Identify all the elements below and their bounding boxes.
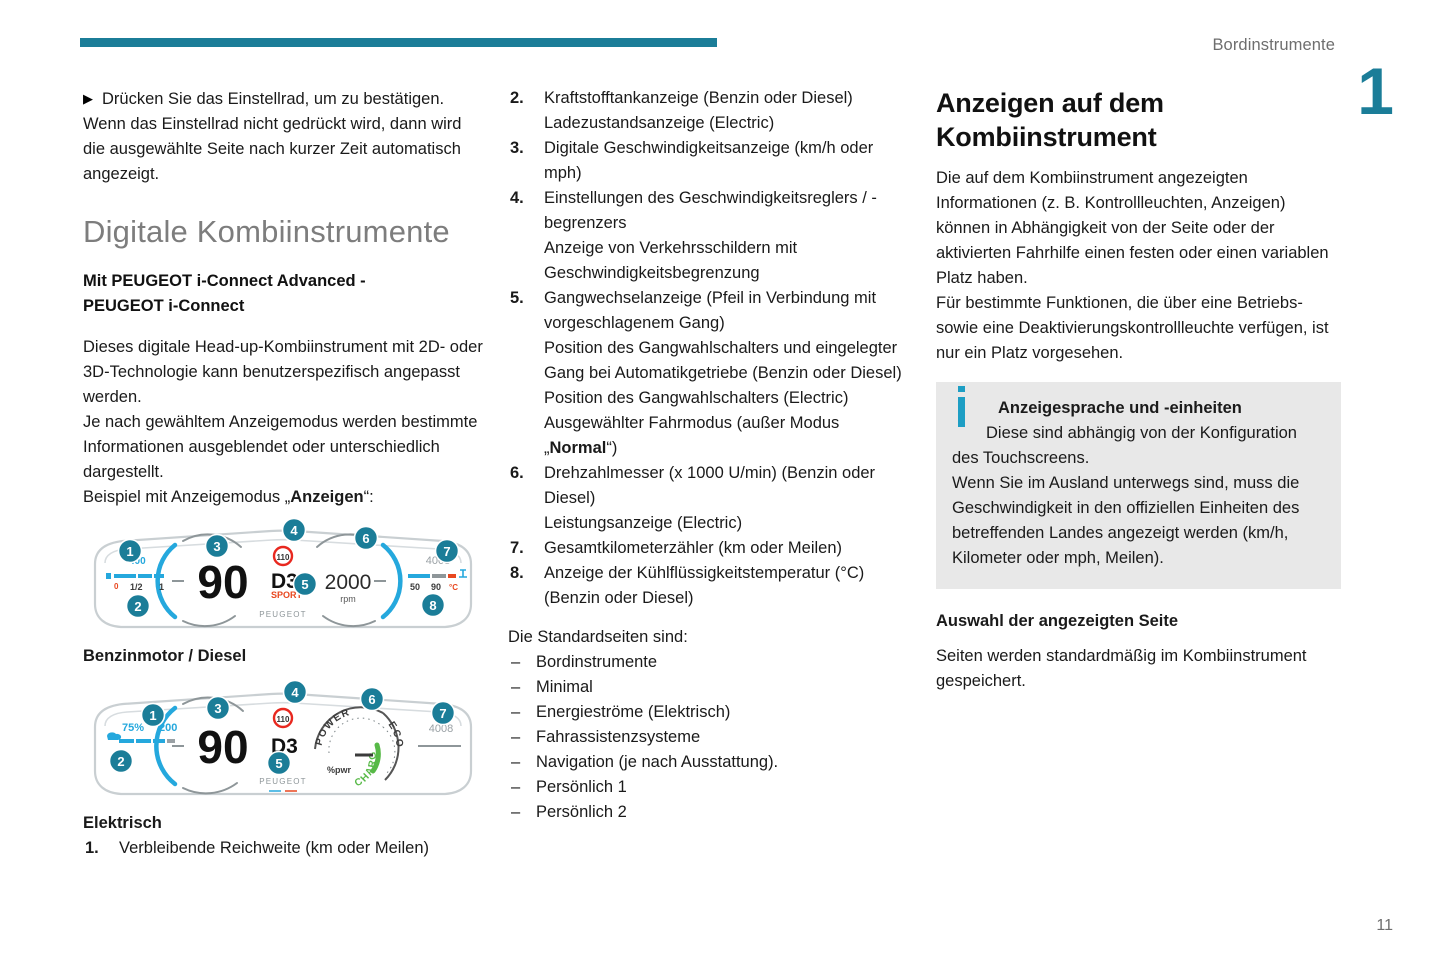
paragraph-1: Die auf dem Kombiinstrument angezeigten … (936, 166, 1341, 291)
fuel-bar-2 (138, 574, 152, 578)
cluster-legend-list-start: 1. Verbleibende Reichweite (km oder Meil… (83, 836, 483, 861)
svg-text:1: 1 (126, 544, 133, 559)
list-item: 8. Anzeige der Kühlflüssigkeitstemperatu… (508, 561, 913, 611)
speed-limit-value: 110 (277, 553, 290, 562)
speed-limit-value: 110 (277, 715, 290, 724)
column-left: ▶Drücken Sie das Einstellrad, um zu best… (83, 86, 483, 861)
paragraph-3-pre: Beispiel mit Anzeigemodus „ (83, 488, 290, 506)
rpm-readout: 2000 (325, 571, 372, 594)
triangle-right-icon: ▶ (83, 86, 93, 111)
callout-4: 4 (283, 519, 306, 542)
list-item-subtext-3: Ausgewählter Fahrmodus (außer Modus „Nor… (544, 411, 913, 461)
list-item-text: Persönlich 2 (536, 803, 627, 821)
header-accent-rule (80, 38, 717, 47)
paragraph-1: Dieses digitale Head-up-Kombiinstrument … (83, 335, 483, 410)
dash-marker: – (511, 675, 520, 700)
section-heading: Anzeigen auf dem Kombiinstrument (936, 86, 1341, 154)
list-item-text: Gesamtkilometerzähler (km oder Meilen) (544, 536, 913, 561)
list-item: 3. Digitale Geschwindigkeitsanzeige (km/… (508, 136, 913, 186)
paragraph-3: Seiten werden standardmäßig im Kombiinst… (936, 644, 1341, 694)
paragraph-2: Je nach gewähltem Anzeigemodus werden be… (83, 410, 483, 485)
default-pages-intro: Die Standardseiten sind: (508, 625, 913, 650)
callout-3: 3 (207, 697, 230, 720)
brand-label: PEUGEOT (259, 777, 307, 786)
intro-paragraph: ▶Drücken Sie das Einstellrad, um zu best… (83, 86, 483, 187)
list-item-text: Fahrassistenzsysteme (536, 728, 700, 746)
speed-readout: 90 (197, 556, 248, 608)
dash-marker: – (511, 750, 520, 775)
list-item-text: Anzeige der Kühlflüssigkeitstemperatur (… (544, 561, 913, 611)
temp-bar-1 (408, 574, 430, 578)
fuel-max-label: 1 (159, 582, 164, 592)
range-value: 200 (159, 722, 177, 734)
svg-text:4: 4 (291, 685, 299, 700)
callout-3: 3 (206, 535, 229, 558)
svg-text:3: 3 (214, 701, 221, 716)
svg-text:6: 6 (362, 531, 369, 546)
paragraph-3: Beispiel mit Anzeigemodus „Anzeigen“: (83, 485, 483, 510)
subsection-heading-line1: Mit PEUGEOT i-Connect Advanced - (83, 272, 366, 290)
list-item: –Energieströme (Elektrisch) (508, 700, 913, 725)
callout-7: 7 (432, 702, 455, 725)
svg-text:2: 2 (134, 599, 141, 614)
list-item: –Navigation (je nach Ausstattung). (508, 750, 913, 775)
list-item: –Persönlich 2 (508, 800, 913, 825)
list-item-index: 2. (510, 86, 524, 111)
header-chapter-name: Bordinstrumente (1212, 36, 1335, 55)
list-item-index: 4. (510, 186, 524, 211)
list-item-text: Gangwechselanzeige (Pfeil in Verbindung … (544, 286, 913, 336)
chapter-number-badge: 1 (1357, 58, 1393, 124)
cluster-figure-electric: 90 75% 200 110 D3 POWER ECO (83, 675, 483, 805)
dash-marker: – (511, 725, 520, 750)
list-item: –Minimal (508, 675, 913, 700)
figure-caption-electric: Elektrisch (83, 811, 483, 836)
charge-bar-3 (153, 739, 165, 743)
callout-1: 1 (119, 540, 142, 563)
list-item-text: Drehzahlmesser (x 1000 U/min) (Benzin od… (544, 461, 913, 511)
cluster-figure-petrol: 90 400 0 1/2 1 110 D3 SPORT 2000 rpm (83, 516, 483, 638)
page-number: 11 (1376, 917, 1393, 935)
column-right: Anzeigen auf dem Kombiinstrument Die auf… (936, 86, 1341, 694)
svg-text:3: 3 (213, 539, 220, 554)
paragraph-3-post: “: (364, 488, 374, 506)
fuel-bar-3 (154, 574, 164, 578)
power-gauge-unit: %pwr (327, 765, 352, 775)
list-item-text: Navigation (je nach Ausstattung). (536, 753, 778, 771)
list-item-text: Bordinstrumente (536, 653, 657, 671)
list-item-subtext: Leistungsanzeige (Electric) (544, 511, 913, 536)
list-item-text: Kraftstofftankanzeige (Benzin oder Diese… (544, 86, 913, 111)
svg-text:7: 7 (443, 544, 450, 559)
drive-mode-post: “) (606, 439, 617, 457)
fuel-min-label: 0 (114, 582, 119, 591)
callout-5: 5 (294, 573, 317, 596)
figure-caption-petrol: Benzinmotor / Diesel (83, 644, 483, 669)
list-item-index: 6. (510, 461, 524, 486)
list-item: 7. Gesamtkilometerzähler (km oder Meilen… (508, 536, 913, 561)
charge-percent: 75% (122, 722, 144, 734)
spacer (508, 611, 913, 625)
list-item: 2. Kraftstofftankanzeige (Benzin oder Di… (508, 86, 913, 136)
callout-5: 5 (268, 752, 291, 775)
svg-text:5: 5 (301, 577, 308, 592)
intro-text: Drücken Sie das Einstellrad, um zu bestä… (83, 90, 461, 183)
list-item: 5. Gangwechselanzeige (Pfeil in Verbindu… (508, 286, 913, 461)
subsection-heading: Mit PEUGEOT i-Connect Advanced - PEUGEOT… (83, 269, 483, 319)
rpm-unit-label: rpm (340, 594, 356, 604)
list-item-index: 1. (85, 836, 99, 861)
callout-1: 1 (142, 704, 165, 727)
list-item-subtext-1: Position des Gangwahlschalters und einge… (544, 336, 913, 386)
info-box-body-1: Diese sind abhängig von der Konfiguratio… (952, 421, 1325, 471)
info-icon-stem (958, 397, 965, 427)
speed-readout: 90 (197, 721, 248, 773)
list-item-text: Energieströme (Elektrisch) (536, 703, 730, 721)
callout-2: 2 (110, 750, 133, 773)
callout-6: 6 (355, 527, 378, 550)
fuel-half-label: 1/2 (130, 582, 143, 592)
temp-90-label: 90 (431, 582, 441, 592)
list-item-text: Digitale Geschwindigkeitsanzeige (km/h o… (544, 136, 913, 186)
svg-text:1: 1 (149, 708, 156, 723)
page-title: Digitale Kombiinstrumente (83, 213, 483, 251)
dash-marker: – (511, 775, 520, 800)
list-item: –Bordinstrumente (508, 650, 913, 675)
charge-bar-2 (136, 739, 151, 743)
callout-4: 4 (284, 681, 307, 704)
section-heading-line2: Kombiinstrument (936, 122, 1157, 152)
info-icon-dot (958, 386, 965, 392)
callout-2: 2 (127, 595, 150, 618)
list-item-subtext: Ladezustandsanzeige (Electric) (544, 111, 913, 136)
drive-mode-bold: Normal (550, 439, 607, 457)
subsection-heading-line2: PEUGEOT i-Connect (83, 297, 244, 315)
charge-bar-4 (167, 739, 175, 743)
section-heading-line1: Anzeigen auf dem (936, 88, 1164, 118)
callout-6: 6 (361, 688, 384, 711)
info-box-body-2: Wenn Sie im Ausland unterwegs sind, muss… (952, 471, 1325, 571)
temp-bar-2 (432, 574, 446, 578)
fuel-bar-1 (114, 574, 136, 578)
list-item-text: Verbleibende Reichweite (km oder Meilen) (119, 839, 429, 857)
list-item-subtext: Anzeige von Verkehrsschildern mit Geschw… (544, 236, 913, 286)
list-item-text: Einstellungen des Geschwindigkeitsregler… (544, 186, 913, 236)
temp-unit-label: °C (449, 583, 458, 592)
temp-bar-3 (448, 574, 456, 578)
list-item: –Persönlich 1 (508, 775, 913, 800)
fuel-pump-icon (106, 573, 111, 579)
svg-text:5: 5 (275, 756, 282, 771)
dash-marker: – (511, 700, 520, 725)
list-item-index: 3. (510, 136, 524, 161)
paragraph-3-bold: Anzeigen (290, 488, 363, 506)
info-box: Anzeigesprache und -einheiten Diese sind… (936, 382, 1341, 589)
dash-marker: – (511, 800, 520, 825)
list-item-text: Persönlich 1 (536, 778, 627, 796)
svg-text:2: 2 (117, 754, 124, 769)
svg-text:7: 7 (439, 706, 446, 721)
subsection-heading: Auswahl der angezeigten Seite (936, 609, 1341, 634)
default-pages-list: –Bordinstrumente –Minimal –Energieströme… (508, 650, 913, 825)
list-item-index: 7. (510, 536, 524, 561)
brand-label: PEUGEOT (259, 610, 307, 619)
list-item-text: Minimal (536, 678, 593, 696)
charge-bar-1 (119, 739, 134, 743)
dash-marker: – (511, 650, 520, 675)
list-item-index: 8. (510, 561, 524, 586)
list-item: 4. Einstellungen des Geschwindigkeitsreg… (508, 186, 913, 286)
temp-50-label: 50 (410, 582, 420, 592)
svg-text:4: 4 (290, 523, 298, 538)
list-item: –Fahrassistenzsysteme (508, 725, 913, 750)
list-item-subtext-2: Position des Gangwahlschalters (Electric… (544, 386, 913, 411)
svg-text:8: 8 (429, 598, 436, 613)
callout-7: 7 (436, 540, 459, 563)
svg-text:6: 6 (368, 692, 375, 707)
list-item: 6. Drehzahlmesser (x 1000 U/min) (Benzin… (508, 461, 913, 536)
info-box-title: Anzeigesprache und -einheiten (998, 396, 1325, 421)
paragraph-2: Für bestimmte Funktionen, die über eine … (936, 291, 1341, 366)
callout-8: 8 (422, 594, 445, 617)
list-item-index: 5. (510, 286, 524, 311)
cluster-legend-list: 2. Kraftstofftankanzeige (Benzin oder Di… (508, 86, 913, 611)
list-item: 1. Verbleibende Reichweite (km oder Meil… (83, 836, 483, 861)
column-middle: 2. Kraftstofftankanzeige (Benzin oder Di… (508, 86, 913, 825)
